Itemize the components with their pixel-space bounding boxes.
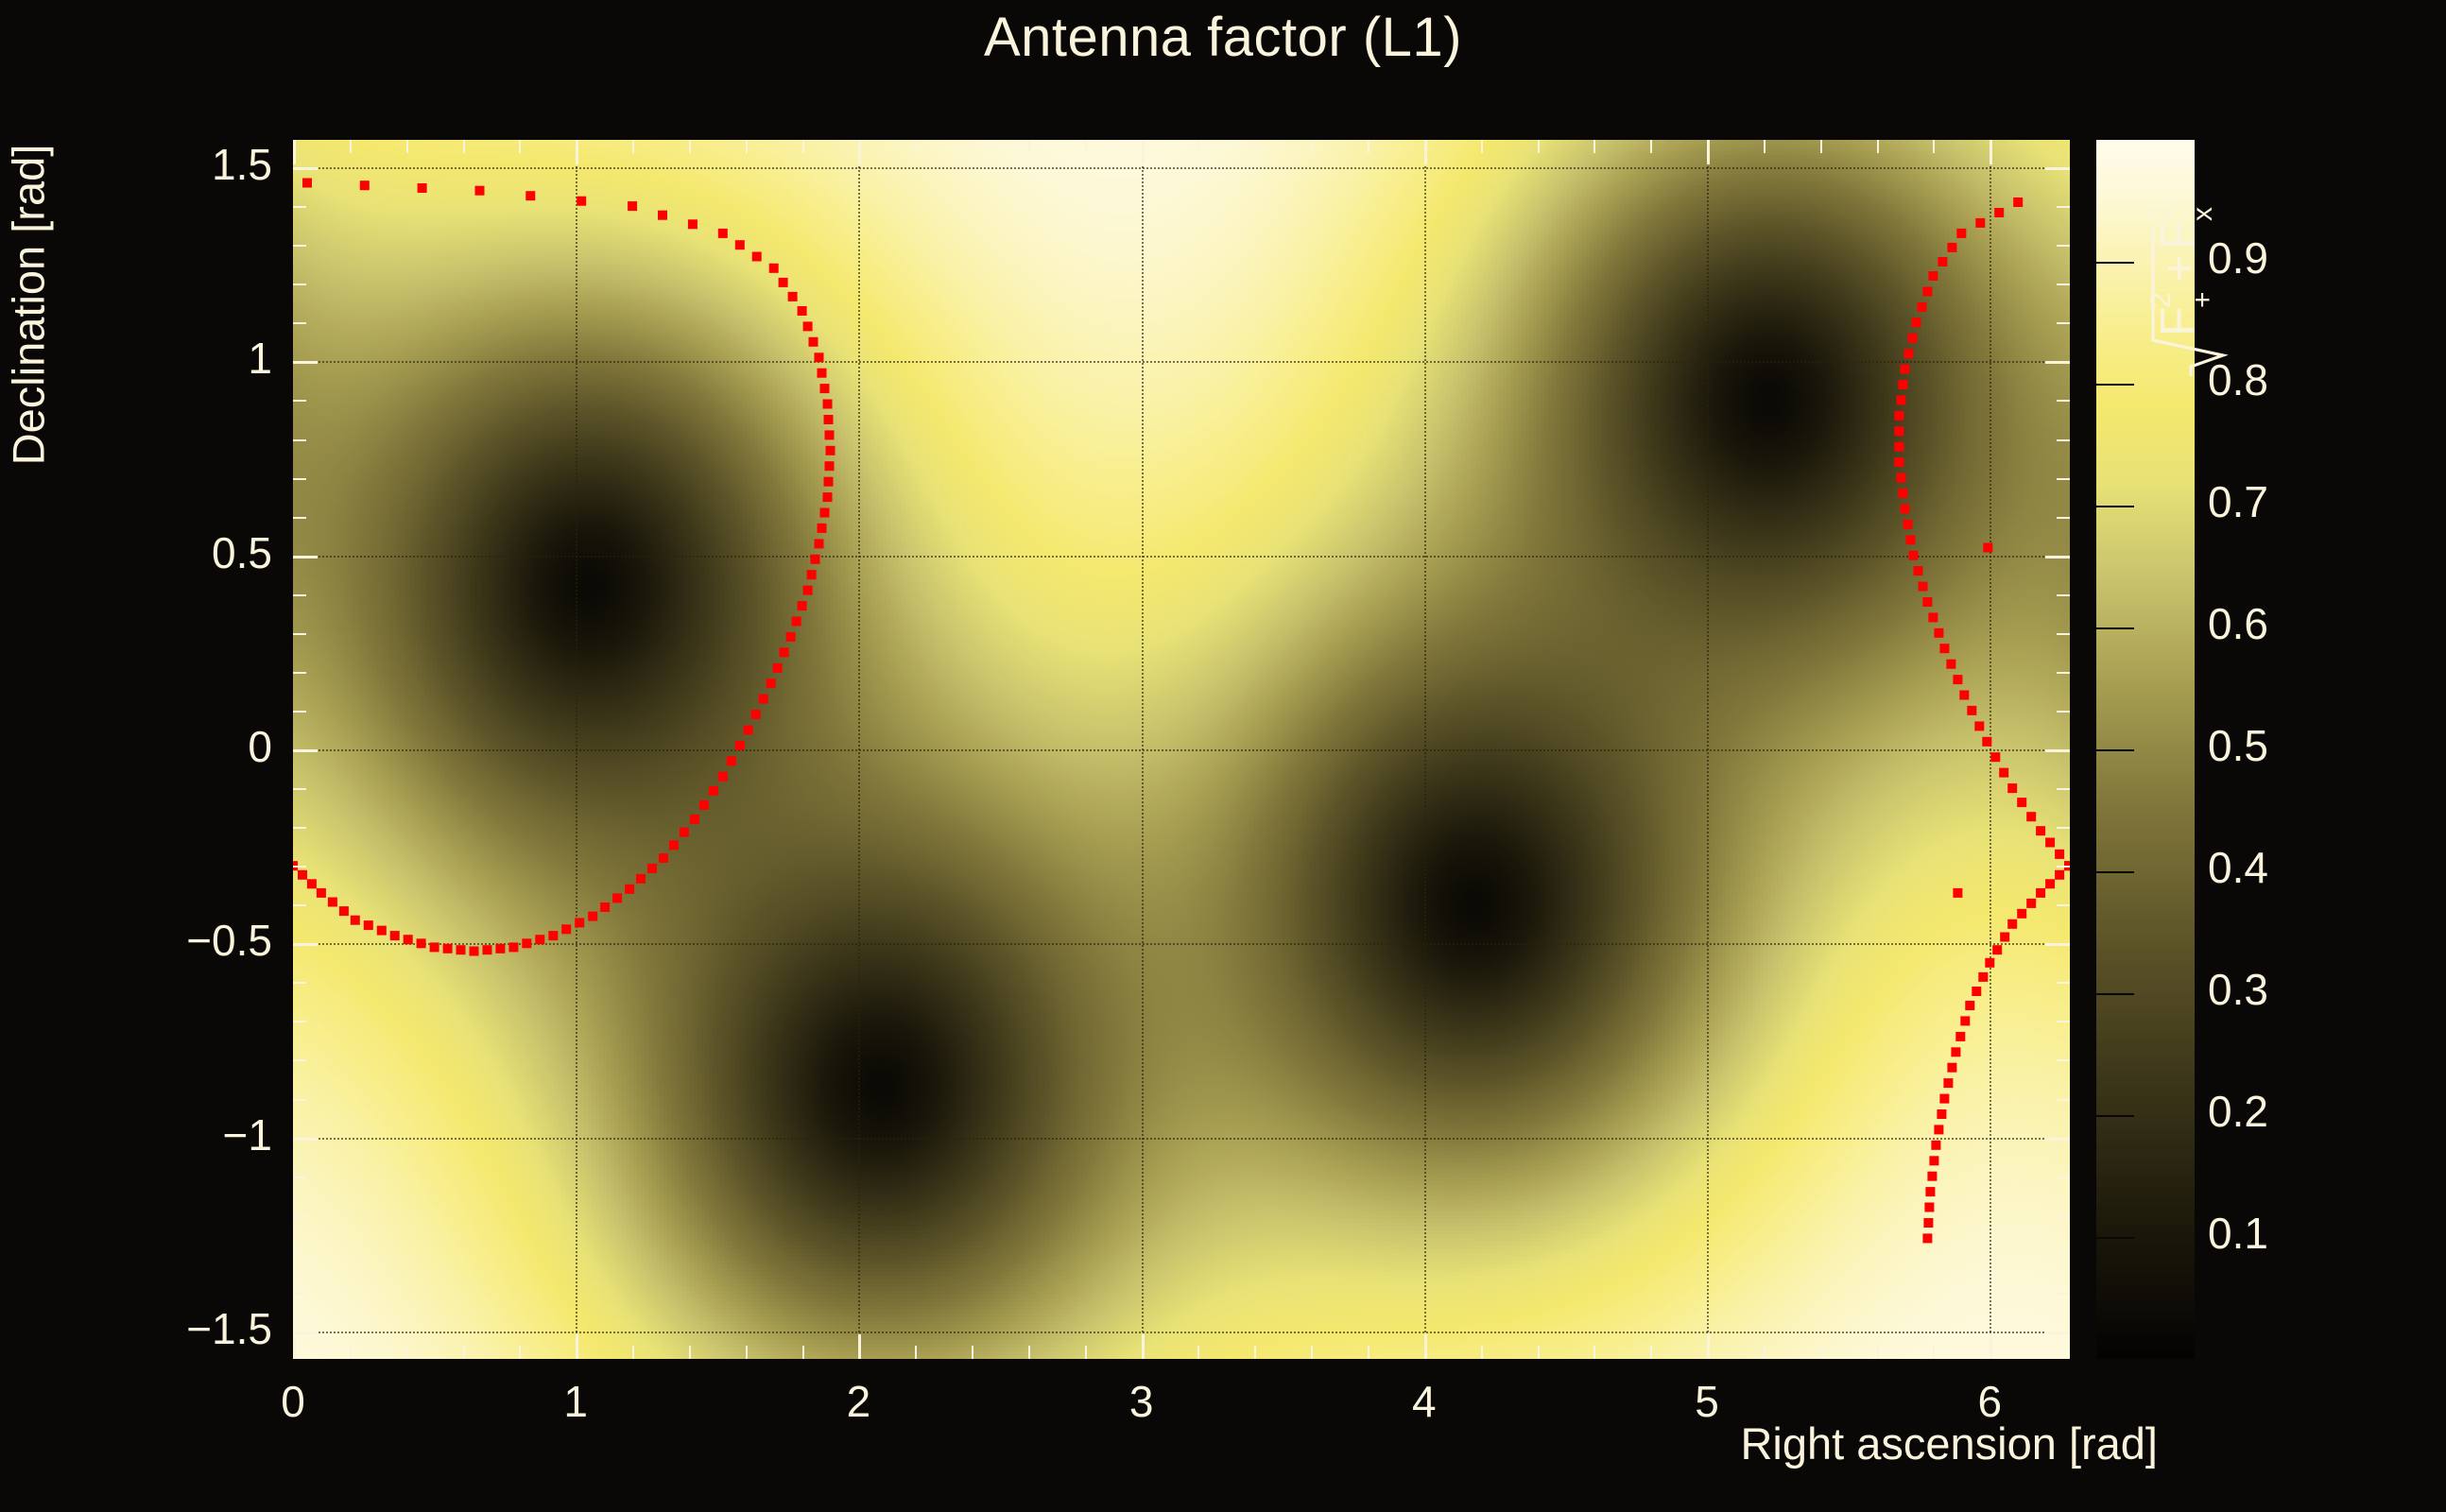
x-minor-tick-0-2	[406, 1346, 408, 1359]
galactic-plane-marker	[1914, 566, 1923, 576]
y-minor-tick-1-3	[293, 478, 306, 480]
galactic-plane-marker	[1928, 271, 1938, 281]
galactic-plane-marker	[2026, 812, 2036, 821]
galactic-plane-marker	[2026, 899, 2036, 908]
x-minor-tick-top-4-3	[1593, 140, 1595, 153]
y-minor-tick-1-1	[293, 400, 306, 402]
galactic-plane-marker	[1972, 987, 1981, 996]
galactic-plane-marker	[2055, 850, 2064, 859]
y-minor-tick-right-5-1	[2057, 1177, 2070, 1178]
x-minor-tick-top-0-1	[350, 140, 352, 153]
y-minor-tick-right-0-4	[2057, 322, 2070, 324]
y-major-tick-1	[293, 361, 318, 364]
y-minor-tick-right-3-4	[2057, 904, 2070, 906]
galactic-plane-marker	[1974, 721, 1984, 730]
y-minor-tick-right-2-2	[2057, 633, 2070, 635]
galactic-plane-marker	[1899, 489, 1908, 498]
galactic-plane-marker	[2007, 919, 2017, 929]
y-major-tick-6	[293, 1332, 318, 1334]
galactic-plane-marker	[1939, 1094, 1949, 1104]
x-major-tick-top-3	[1142, 140, 1145, 164]
colorbar-tick-label-0: 0.1	[2208, 1208, 2268, 1259]
y-minor-tick-5-1	[293, 1177, 306, 1178]
galactic-plane-marker	[364, 920, 373, 930]
galactic-plane-marker	[699, 800, 709, 810]
galactic-plane-marker	[807, 570, 817, 579]
x-minor-tick-2-4	[1085, 1346, 1087, 1359]
galactic-plane-marker	[1983, 543, 1992, 553]
x-minor-tick-top-5-3	[1877, 140, 1879, 153]
galactic-plane-marker	[735, 240, 745, 249]
galactic-plane-marker	[1895, 411, 1904, 421]
x-minor-tick-top-4-1	[1481, 140, 1483, 153]
x-major-tick-top-0	[293, 140, 296, 164]
galactic-plane-marker	[2017, 798, 2026, 807]
y-minor-tick-1-2	[293, 439, 306, 441]
galactic-plane-marker	[1947, 243, 1956, 252]
y-tick-label-4: −0.5	[83, 915, 272, 966]
x-minor-tick-top-2-1	[915, 140, 917, 153]
y-major-tick-right-1	[2045, 361, 2070, 364]
chart-root: Antenna factor (L1) 01234561.510.50−0.5−…	[0, 0, 2446, 1512]
galactic-plane-marker	[339, 906, 349, 916]
y-tick-label-1: 1	[83, 333, 272, 384]
y-minor-tick-right-5-3	[2057, 1254, 2070, 1256]
galactic-plane-marker	[1943, 1078, 1953, 1088]
x-minor-tick-3-1	[1197, 1346, 1199, 1359]
x-minor-tick-top-1-3	[746, 140, 748, 153]
galactic-plane-marker	[1978, 972, 1988, 982]
galactic-plane-marker	[628, 201, 637, 211]
galactic-plane-marker	[1899, 380, 1908, 389]
x-minor-tick-0-3	[463, 1346, 465, 1359]
x-major-tick-top-1	[576, 140, 578, 164]
galactic-plane-marker	[577, 197, 586, 206]
y-tick-label-0: 1.5	[83, 139, 272, 190]
galactic-plane-marker	[1951, 1047, 1960, 1057]
x-axis-title: Right ascension [rad]	[1740, 1417, 2158, 1469]
x-minor-tick-1-4	[802, 1346, 804, 1359]
x-minor-tick-top-2-3	[1028, 140, 1030, 153]
y-major-tick-5	[293, 1138, 318, 1141]
galactic-plane-marker	[483, 945, 492, 954]
y-minor-tick-right-2-1	[2057, 594, 2070, 596]
y-major-tick-right-6	[2045, 1332, 2070, 1334]
y-tick-label-3: 0	[83, 721, 272, 772]
y-minor-tick-right-0-1	[2057, 206, 2070, 208]
y-minor-tick-3-2	[293, 827, 306, 829]
galactic-plane-marker	[1994, 208, 2004, 217]
galactic-plane-marker	[792, 617, 801, 627]
galactic-plane-marker	[1908, 334, 1918, 343]
x-minor-tick-4-4	[1650, 1346, 1652, 1359]
galactic-plane-marker	[752, 252, 762, 262]
galactic-plane-marker	[417, 938, 426, 948]
galactic-plane-marker	[475, 186, 485, 196]
galactic-plane-marker	[1931, 1141, 1940, 1150]
galactic-plane-marker	[1901, 504, 1910, 513]
colorbar-tick-label-1: 0.2	[2208, 1086, 2268, 1137]
galactic-plane-marker	[636, 874, 646, 884]
galactic-plane-marker	[826, 446, 835, 455]
galactic-plane-marker	[1928, 612, 1938, 622]
galactic-plane-marker	[798, 601, 807, 610]
x-major-tick-3	[1142, 1334, 1145, 1359]
x-minor-tick-4-2	[1538, 1346, 1540, 1359]
galactic-plane-marker	[769, 264, 779, 273]
galactic-plane-marker	[508, 942, 518, 952]
colorbar-tick-label-5: 0.6	[2208, 598, 2268, 649]
galactic-plane-marker	[2007, 783, 2017, 793]
y-major-tick-right-2	[2045, 556, 2070, 558]
galactic-plane-marker	[1923, 1218, 1933, 1228]
y-minor-tick-0-1	[293, 206, 306, 208]
y-minor-tick-right-1-2	[2057, 439, 2070, 441]
galactic-plane-marker	[803, 321, 813, 331]
galactic-plane-marker	[1982, 737, 1991, 747]
galactic-plane-marker	[360, 180, 370, 190]
galactic-plane-marker	[811, 555, 820, 564]
y-minor-tick-right-4-2	[2057, 1021, 2070, 1022]
galactic-plane-marker	[2036, 826, 2045, 835]
x-minor-tick-1-3	[746, 1346, 748, 1359]
galactic-plane-marker	[690, 815, 699, 824]
colorbar-tick-label-3: 0.4	[2208, 842, 2268, 893]
x-major-tick-1	[576, 1334, 578, 1359]
x-minor-tick-top-4-2	[1538, 140, 1540, 153]
colorbar-tick-2	[2096, 993, 2134, 995]
galactic-plane-marker	[823, 400, 833, 409]
x-minor-tick-0-4	[519, 1346, 521, 1359]
galactic-plane-marker	[390, 931, 400, 940]
galactic-plane-marker	[443, 944, 453, 954]
galactic-plane-marker	[575, 918, 584, 927]
galactic-plane-marker	[302, 179, 312, 188]
galactic-plane-marker	[522, 938, 531, 948]
x-tick-label-2: 2	[792, 1376, 924, 1427]
galactic-plane-marker	[709, 786, 718, 796]
galactic-plane-marker	[495, 944, 505, 954]
galactic-plane-marker	[1919, 582, 1928, 592]
x-tick-label-3: 3	[1076, 1376, 1208, 1427]
galactic-plane-marker	[2013, 198, 2023, 207]
y-major-tick-2	[293, 556, 318, 558]
galactic-plane-marker	[2045, 879, 2055, 888]
x-major-tick-top-2	[858, 140, 861, 164]
galactic-plane-marker	[1903, 520, 1913, 529]
y-tick-label-6: −1.5	[83, 1303, 272, 1354]
y-minor-tick-right-0-3	[2057, 283, 2070, 285]
y-minor-tick-0-4	[293, 322, 306, 324]
galactic-plane-marker	[1990, 752, 2000, 762]
y-minor-tick-5-4	[293, 1293, 306, 1295]
svg-text:+: +	[2155, 255, 2205, 282]
y-minor-tick-right-2-4	[2057, 711, 2070, 713]
galactic-plane-marker	[430, 942, 439, 952]
x-major-tick-2	[858, 1334, 861, 1359]
y-minor-tick-2-1	[293, 594, 306, 596]
colorbar-tick-7	[2096, 384, 2134, 386]
x-minor-tick-top-3-1	[1197, 140, 1199, 153]
x-major-tick-top-6	[1990, 140, 1992, 164]
galactic-plane-marker	[1956, 229, 1966, 238]
plot-area	[293, 140, 2070, 1359]
galactic-plane-marker	[779, 278, 788, 287]
galactic-plane-marker	[1955, 1032, 1965, 1041]
galactic-plane-marker	[2055, 870, 2064, 880]
galactic-plane-marker	[548, 931, 558, 940]
y-minor-tick-3-4	[293, 904, 306, 906]
galactic-plane-marker	[688, 219, 698, 229]
galactic-plane-marker	[788, 292, 798, 301]
galactic-plane-marker	[625, 885, 634, 894]
galactic-plane-marker	[1965, 1001, 1974, 1010]
galactic-plane-marker	[418, 183, 427, 193]
galactic-plane-marker	[600, 902, 610, 912]
x-tick-label-4: 4	[1358, 1376, 1490, 1427]
galactic-plane-marker	[1901, 365, 1910, 374]
galactic-plane-marker	[773, 663, 783, 673]
y-minor-tick-right-3-2	[2057, 827, 2070, 829]
y-minor-tick-right-3-1	[2057, 788, 2070, 790]
galactic-plane-marker	[1985, 958, 1994, 968]
x-minor-tick-1-1	[632, 1346, 634, 1359]
galactic-plane-marker	[561, 924, 571, 934]
x-tick-label-0: 0	[227, 1376, 359, 1427]
x-minor-tick-4-1	[1481, 1346, 1483, 1359]
x-minor-tick-5-2	[1820, 1346, 1822, 1359]
galactic-plane-marker	[718, 229, 728, 238]
galactic-plane-marker	[1959, 691, 1969, 700]
galactic-plane-marker	[815, 539, 824, 548]
galactic-plane-marker	[780, 647, 789, 657]
galactic-plane-marker	[820, 384, 830, 393]
chart-title: Antenna factor (L1)	[0, 6, 2446, 69]
galactic-plane-marker	[825, 430, 835, 439]
x-minor-tick-4-3	[1593, 1346, 1595, 1359]
galactic-plane-marker	[1927, 1172, 1937, 1181]
galactic-plane-marker	[1906, 535, 1916, 544]
y-minor-tick-right-4-1	[2057, 982, 2070, 984]
y-minor-tick-right-5-2	[2057, 1215, 2070, 1217]
svg-text:2: 2	[2145, 292, 2177, 308]
galactic-plane-marker	[2000, 933, 2009, 942]
galactic-plane-marker	[1897, 395, 1906, 404]
y-minor-tick-right-2-3	[2057, 672, 2070, 674]
galactic-plane-marker	[751, 710, 761, 719]
x-minor-tick-2-3	[1028, 1346, 1030, 1359]
x-minor-tick-top-5-1	[1764, 140, 1766, 153]
y-minor-tick-2-2	[293, 633, 306, 635]
y-minor-tick-right-3-3	[2057, 866, 2070, 868]
y-minor-tick-right-4-4	[2057, 1099, 2070, 1101]
galactic-plane-marker	[824, 415, 834, 424]
galactic-plane-marker	[1953, 888, 1962, 898]
galactic-plane-marker	[803, 586, 813, 595]
x-minor-tick-top-1-1	[632, 140, 634, 153]
galactic-plane-marker	[328, 898, 337, 907]
y-minor-tick-right-1-1	[2057, 400, 2070, 402]
y-minor-tick-right-0-2	[2057, 245, 2070, 247]
galactic-plane-marker	[1975, 218, 1985, 228]
x-minor-tick-0-1	[350, 1346, 352, 1359]
colorbar-tick-5	[2096, 627, 2134, 629]
galactic-plane-marker	[680, 828, 689, 837]
y-minor-tick-right-5-4	[2057, 1293, 2070, 1295]
y-major-tick-4	[293, 943, 318, 946]
galactic-plane-marker	[1999, 768, 2008, 778]
galactic-plane-marker	[377, 926, 387, 936]
y-minor-tick-5-3	[293, 1254, 306, 1256]
galactic-plane-marker	[1946, 660, 1955, 669]
galactic-plane-marker	[351, 916, 360, 925]
x-minor-tick-top-3-3	[1311, 140, 1313, 153]
y-minor-tick-right-4-3	[2057, 1059, 2070, 1061]
galactic-plane-marker	[798, 306, 807, 316]
y-minor-tick-4-4	[293, 1099, 306, 1101]
x-minor-tick-top-5-2	[1820, 140, 1822, 153]
y-major-tick-right-3	[2045, 749, 2070, 752]
galactic-plane-marker	[658, 211, 667, 220]
y-major-tick-right-5	[2045, 1138, 2070, 1141]
galactic-plane-marker	[1895, 426, 1904, 436]
galactic-plane-marker	[1904, 349, 1914, 358]
y-major-tick-0	[293, 167, 318, 170]
x-minor-tick-top-2-4	[1085, 140, 1087, 153]
y-minor-tick-3-3	[293, 866, 306, 868]
y-minor-tick-0-3	[293, 283, 306, 285]
colorbar-tick-label-2: 0.3	[2208, 964, 2268, 1015]
colorbar-tick-8	[2096, 262, 2134, 264]
x-minor-tick-3-3	[1311, 1346, 1313, 1359]
y-tick-label-2: 0.5	[83, 527, 272, 578]
x-minor-tick-top-0-4	[519, 140, 521, 153]
x-minor-tick-1-2	[689, 1346, 691, 1359]
galactic-plane-marker	[1924, 1203, 1934, 1212]
galactic-plane-marker	[1934, 628, 1943, 638]
galactic-plane-marker	[1895, 442, 1904, 452]
x-minor-tick-3-4	[1368, 1346, 1369, 1359]
y-minor-tick-0-2	[293, 245, 306, 247]
galactic-plane-marker	[1922, 287, 1932, 297]
y-minor-tick-right-1-4	[2057, 517, 2070, 519]
galactic-plane-overlay	[293, 140, 2070, 1359]
galactic-plane-marker	[824, 477, 834, 487]
x-major-tick-top-4	[1424, 140, 1427, 164]
svg-text:2: 2	[2145, 205, 2177, 221]
galactic-plane-marker	[818, 524, 827, 533]
colorbar-tick-1	[2096, 1115, 2134, 1117]
galactic-plane-marker	[1897, 473, 1906, 483]
colorbar-tick-3	[2096, 871, 2134, 873]
galactic-plane-marker	[2036, 888, 2045, 898]
x-minor-tick-5-1	[1764, 1346, 1766, 1359]
x-minor-tick-top-0-2	[406, 140, 408, 153]
galactic-plane-marker	[298, 870, 307, 880]
y-minor-tick-4-2	[293, 1021, 306, 1022]
y-minor-tick-4-3	[293, 1059, 306, 1061]
galactic-plane-marker	[1929, 1156, 1938, 1165]
galactic-plane-marker	[1922, 1233, 1932, 1243]
galactic-plane-marker	[612, 893, 622, 902]
galactic-plane-marker	[525, 191, 535, 200]
y-axis-title: Declination [rad]	[3, 60, 55, 551]
galactic-plane-marker	[1992, 945, 2002, 954]
galactic-plane-marker	[1947, 1063, 1956, 1073]
galactic-plane-marker	[815, 352, 824, 362]
galactic-plane-marker	[786, 632, 796, 642]
galactic-plane-marker	[456, 945, 466, 954]
x-tick-label-1: 1	[509, 1376, 642, 1427]
galactic-plane-marker	[404, 935, 413, 944]
x-minor-tick-top-2-2	[972, 140, 973, 153]
galactic-plane-marker	[317, 888, 326, 898]
colorbar-tick-label-6: 0.7	[2208, 476, 2268, 527]
y-tick-label-5: −1	[83, 1109, 272, 1160]
y-minor-tick-5-2	[293, 1215, 306, 1217]
y-minor-tick-3-1	[293, 788, 306, 790]
galactic-plane-marker	[809, 337, 818, 347]
galactic-plane-marker	[2017, 909, 2026, 919]
galactic-plane-marker	[669, 840, 679, 850]
colorbar-tick-4	[2096, 749, 2134, 751]
galactic-plane-marker	[718, 772, 728, 782]
y-major-tick-right-0	[2045, 167, 2070, 170]
galactic-plane-marker	[825, 461, 835, 471]
x-minor-tick-top-1-2	[689, 140, 691, 153]
galactic-plane-marker	[818, 369, 827, 378]
galactic-plane-marker	[2045, 838, 2055, 848]
x-minor-tick-5-4	[1933, 1346, 1935, 1359]
galactic-plane-marker	[823, 492, 833, 502]
galactic-plane-marker	[1934, 1125, 1943, 1134]
galactic-plane-marker	[1912, 318, 1921, 327]
galactic-plane-marker	[1938, 257, 1947, 266]
y-major-tick-3	[293, 749, 318, 752]
galactic-plane-marker	[759, 695, 768, 704]
galactic-plane-marker	[727, 756, 736, 765]
galactic-plane-marker	[647, 864, 657, 873]
galactic-plane-marker	[1939, 644, 1949, 653]
y-major-tick-right-4	[2045, 943, 2070, 946]
y-minor-tick-4-1	[293, 982, 306, 984]
x-minor-tick-top-0-3	[463, 140, 465, 153]
x-major-tick-top-5	[1707, 140, 1710, 164]
x-minor-tick-3-2	[1254, 1346, 1256, 1359]
galactic-plane-marker	[535, 935, 544, 944]
colorbar-tick-0	[2096, 1237, 2134, 1239]
galactic-plane-marker	[1967, 706, 1976, 715]
galactic-plane-marker	[307, 879, 317, 888]
x-minor-tick-top-4-4	[1650, 140, 1652, 153]
galactic-plane-marker	[767, 679, 776, 688]
galactic-plane-marker	[1909, 551, 1919, 560]
galactic-plane-marker	[1960, 1016, 1970, 1025]
x-minor-tick-top-1-4	[802, 140, 804, 153]
svg-text:x: x	[2187, 207, 2218, 221]
x-minor-tick-top-3-2	[1254, 140, 1256, 153]
svg-text:+: +	[2187, 291, 2218, 308]
galactic-plane-marker	[1895, 457, 1904, 467]
y-minor-tick-2-4	[293, 711, 306, 713]
galactic-plane-marker	[470, 947, 479, 956]
galactic-plane-marker	[588, 912, 597, 921]
y-minor-tick-2-3	[293, 672, 306, 674]
galactic-plane-marker	[1937, 1109, 1946, 1119]
x-minor-tick-2-1	[915, 1346, 917, 1359]
svg-text:F: F	[2151, 219, 2206, 249]
galactic-plane-marker	[1953, 675, 1962, 684]
